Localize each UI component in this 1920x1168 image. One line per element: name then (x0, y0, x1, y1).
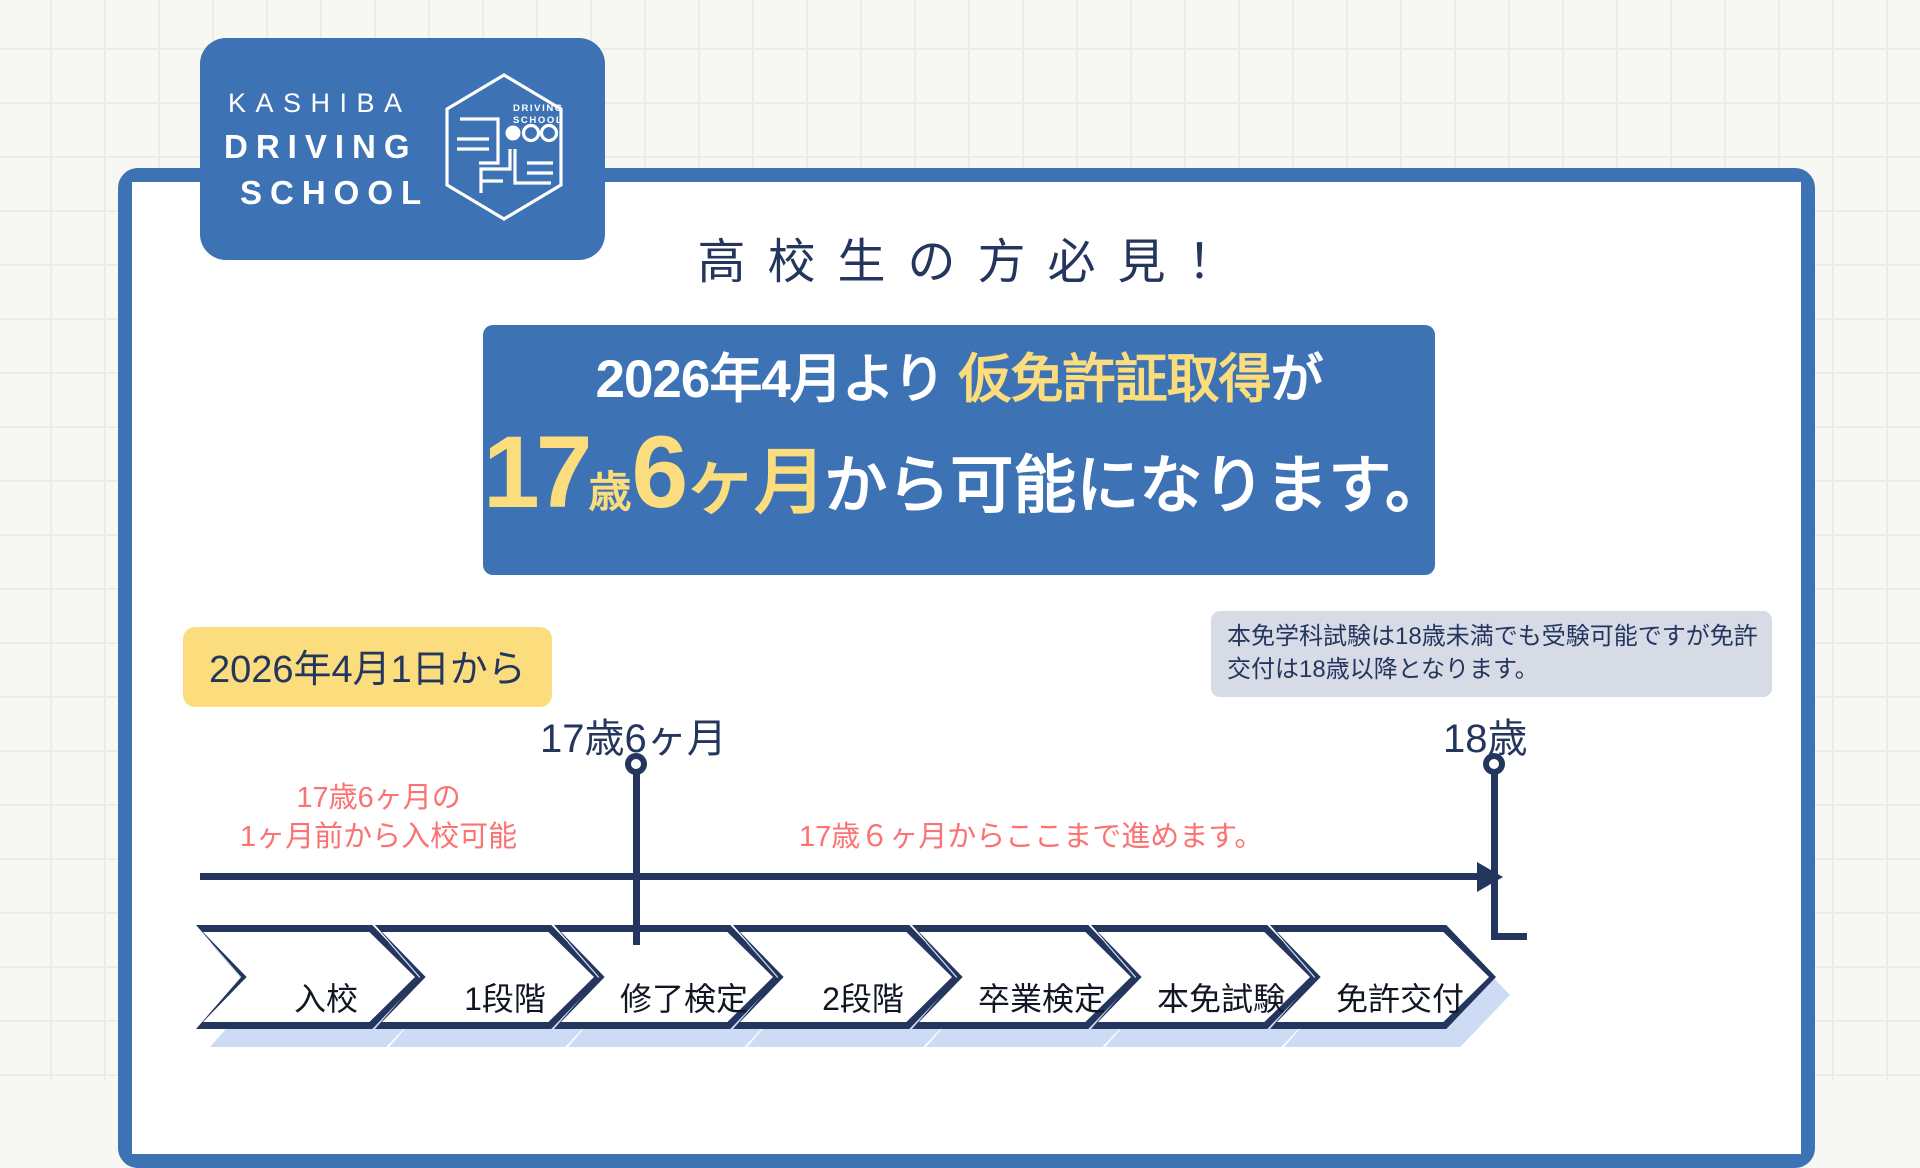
timeline-connector-18y (1491, 770, 1498, 940)
timeline-axis-arrowhead (1477, 862, 1503, 892)
hexagon-mark-driving-text: DRIVING (513, 103, 564, 114)
banner-text-particle: が (1271, 350, 1323, 409)
banner-text-highlight: 仮免許証取得 (959, 350, 1271, 409)
annotation-progress-range: 17歳６ヶ月からここまで進めます。 (799, 818, 1263, 857)
annotation-enrollment-window: 17歳6ヶ月の 1ヶ月前から入校可能 (240, 779, 517, 857)
process-step-flow: 入校 1段階 修了検定 2段階 卒業検定 本免試験 免許交付 (196, 925, 1796, 1055)
timeline-marker-dot-17y6m (625, 753, 647, 775)
timeline-connector-17y6m (633, 770, 640, 945)
announcement-banner: 2026年4月より 仮免許証取得が 17歳6ヶ月から可能になります。 (483, 325, 1435, 575)
timeline-connector-18y-elbow (1491, 933, 1527, 940)
banner-age-years-number: 17 (483, 415, 588, 529)
effective-date-badge: 2026年4月1日から (183, 627, 552, 707)
brand-logo-badge: KASHIBA DRIVING SCHOOL DRIVING SCHOOL (200, 38, 605, 260)
annotation-enrollment-line-1: 17歳6ヶ月の (240, 779, 517, 818)
banner-age-months-number: 6 (631, 415, 684, 529)
process-step-label: 免許交付 (1270, 945, 1506, 1049)
brand-line-driving: DRIVING (224, 130, 429, 163)
brand-line-school: SCHOOL (224, 176, 429, 209)
hexagon-mark-school-text: SCHOOL (513, 115, 563, 126)
hexagon-logo-icon: DRIVING SCHOOL (441, 71, 567, 228)
banner-text-tail: から可能になります。 (824, 451, 1448, 521)
timeline-marker-dot-18y (1483, 753, 1505, 775)
banner-line-2: 17歳6ヶ月から可能になります。 (483, 421, 1435, 523)
banner-line-1: 2026年4月より 仮免許証取得が (483, 347, 1435, 413)
exam-note-callout: 本免学科試験は18歳未満でも受験可能ですが免許交付は18歳以降となります。 (1211, 611, 1772, 697)
timeline-axis-line (200, 873, 1493, 880)
banner-text-date-prefix: 2026年4月より (595, 350, 958, 409)
annotation-enrollment-line-2: 1ヶ月前から入校可能 (240, 818, 517, 857)
process-step-license-issued[interactable]: 免許交付 (1270, 925, 1510, 1047)
banner-age-months-unit: ヶ月 (684, 443, 824, 523)
banner-age-years-unit: 歳 (588, 469, 631, 517)
brand-wordmark: KASHIBA DRIVING SCHOOL (224, 90, 429, 209)
brand-line-kashiba: KASHIBA (224, 90, 429, 117)
